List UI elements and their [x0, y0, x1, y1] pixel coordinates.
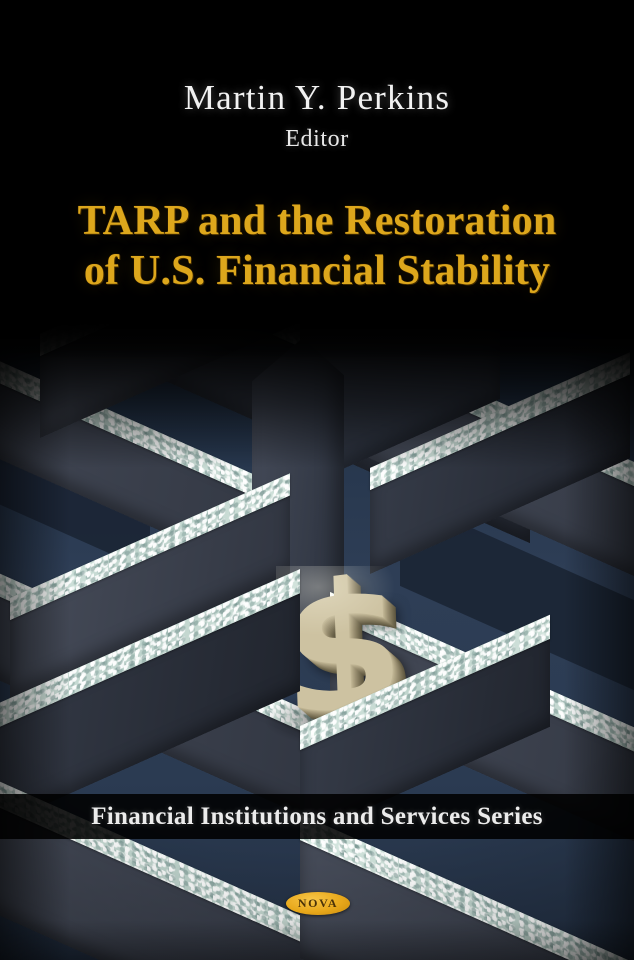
book-title-line-1: TARP and the Restoration: [26, 196, 608, 246]
artwork-top-fade: [0, 318, 634, 468]
book-title: TARP and the Restoration of U.S. Financi…: [26, 196, 608, 296]
author-name: Martin Y. Perkins: [0, 78, 634, 118]
title-backdrop: [0, 0, 634, 360]
author-role: Editor: [0, 126, 634, 153]
book-title-line-2: of U.S. Financial Stability: [26, 246, 608, 296]
publisher-name: NOVA: [298, 896, 338, 911]
publisher-logo: NOVA: [286, 892, 350, 915]
book-cover: $ Martin Y. Perkins Editor TARP and the …: [0, 0, 634, 960]
maze-artwork: $: [0, 318, 634, 960]
series-label: Financial Institutions and Services Seri…: [91, 803, 543, 831]
series-band: Financial Institutions and Services Seri…: [0, 794, 634, 839]
